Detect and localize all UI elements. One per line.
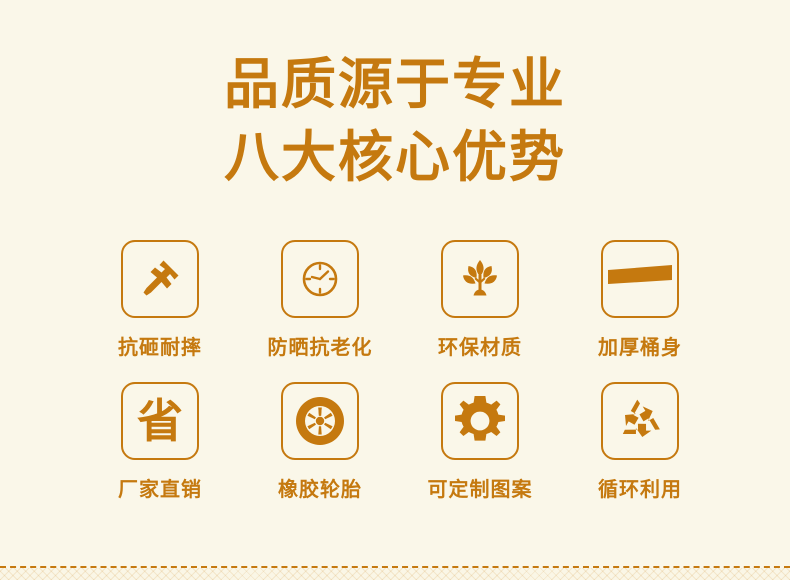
clock-icon-box xyxy=(281,240,359,318)
feature-label: 环保材质 xyxy=(438,331,522,360)
save-character-icon: 省 xyxy=(137,398,183,444)
bottom-texture-band xyxy=(0,568,790,580)
feature-item-impact-resistant: 抗砸耐摔 xyxy=(80,240,240,360)
tree-icon xyxy=(455,254,505,304)
headline-line-1: 品质源于专业 xyxy=(0,48,790,121)
clock-icon xyxy=(295,254,345,304)
page-title: 品质源于专业 八大核心优势 xyxy=(0,48,790,193)
feature-label: 厂家直销 xyxy=(118,473,202,502)
feature-item-thick-body: 加厚桶身 xyxy=(560,240,720,360)
tree-icon-box xyxy=(441,240,519,318)
feature-label: 抗砸耐摔 xyxy=(118,331,202,360)
feature-label: 加厚桶身 xyxy=(598,331,682,360)
feature-item-custom-pattern: 可定制图案 xyxy=(400,382,560,502)
hammer-icon xyxy=(135,254,185,304)
tire-icon-box xyxy=(281,382,359,460)
feature-label: 可定制图案 xyxy=(428,473,533,502)
feature-label: 橡胶轮胎 xyxy=(278,473,362,502)
promo-banner: 品质源于专业 八大核心优势 抗砸耐摔 xyxy=(0,0,790,580)
hammer-icon-box xyxy=(121,240,199,318)
feature-item-uv-aging-resistant: 防晒抗老化 xyxy=(240,240,400,360)
recycle-icon xyxy=(613,394,667,448)
feature-item-recyclable: 循环利用 xyxy=(560,382,720,502)
headline-line-2: 八大核心优势 xyxy=(0,121,790,194)
tire-icon xyxy=(294,395,346,447)
thickness-icon-box xyxy=(601,240,679,318)
feature-item-eco-material: 环保材质 xyxy=(400,240,560,360)
save-character-icon-box: 省 xyxy=(121,382,199,460)
feature-item-factory-direct: 省 厂家直销 xyxy=(80,382,240,502)
feature-grid: 抗砸耐摔 防晒抗老化 xyxy=(80,240,720,502)
thickness-icon xyxy=(608,253,672,305)
feature-label: 循环利用 xyxy=(598,473,682,502)
feature-item-rubber-tire: 橡胶轮胎 xyxy=(240,382,400,502)
recycle-icon-box xyxy=(601,382,679,460)
gear-icon xyxy=(453,394,507,448)
gear-icon-box xyxy=(441,382,519,460)
feature-label: 防晒抗老化 xyxy=(268,331,373,360)
